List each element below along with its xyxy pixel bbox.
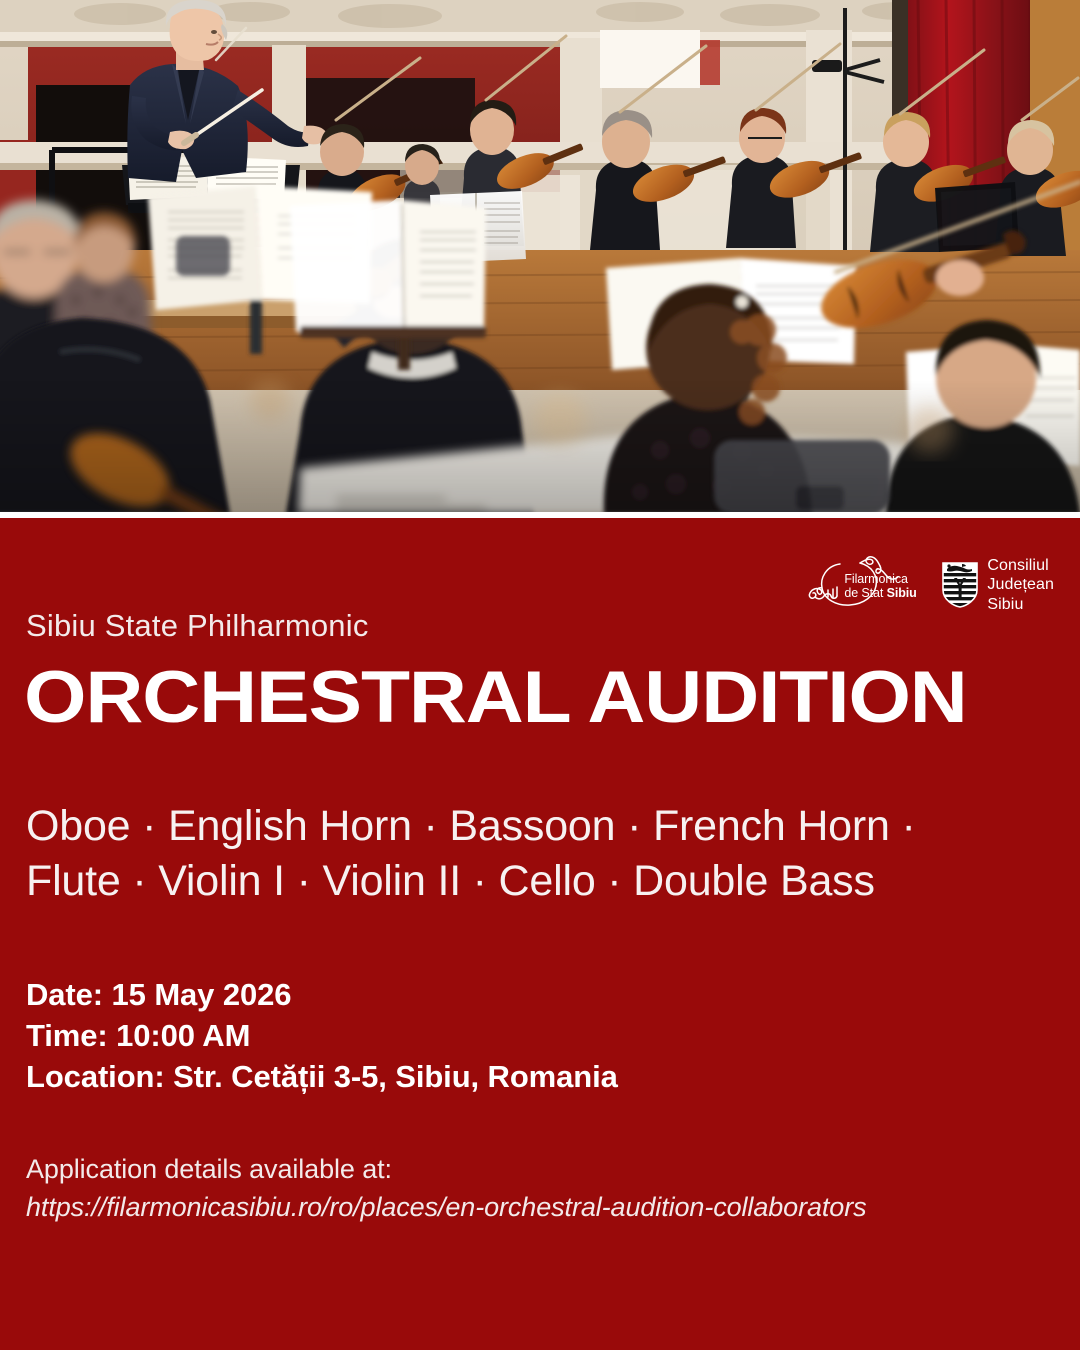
instruments-list: Oboe · English Horn · Bassoon · French H… bbox=[26, 799, 1016, 909]
event-details: Date: 15 May 2026 Time: 10:00 AM Locatio… bbox=[26, 974, 618, 1098]
filarmonica-line1: Filarmonica bbox=[844, 572, 916, 586]
filarmonica-wordmark: Filarmonica de Stat Sibiu bbox=[844, 572, 916, 601]
event-location: Location: Str. Cetății 3-5, Sibiu, Roman… bbox=[26, 1056, 618, 1097]
application-label: Application details available at: bbox=[26, 1154, 392, 1184]
application-info: Application details available at: https:… bbox=[26, 1150, 867, 1227]
event-time: Time: 10:00 AM bbox=[26, 1015, 618, 1056]
cj-line1: Consiliul bbox=[987, 556, 1054, 576]
poster-root: Filarmonica de Stat Sibiu bbox=[0, 0, 1080, 1350]
organisation-name: Sibiu State Philharmonic bbox=[26, 608, 369, 644]
consiliul-judetean-wordmark: Consiliul Județean Sibiu bbox=[987, 556, 1054, 615]
cj-line3: Sibiu bbox=[987, 595, 1054, 615]
filarmonica-line2: de Stat Sibiu bbox=[844, 586, 916, 600]
filarmonica-line2-plain: de Stat bbox=[844, 586, 886, 600]
coat-of-arms-shield-icon bbox=[942, 562, 978, 608]
filarmonica-line2-bold: Sibiu bbox=[887, 586, 917, 600]
filarmonica-sibiu-logo: Filarmonica de Stat Sibiu bbox=[806, 554, 926, 616]
cj-line2: Județean bbox=[987, 575, 1054, 595]
event-date: Date: 15 May 2026 bbox=[26, 974, 618, 1015]
logo-group: Filarmonica de Stat Sibiu bbox=[806, 554, 1054, 616]
page-title: ORCHESTRAL AUDITION bbox=[24, 661, 967, 734]
instruments-line-2: Flute · Violin I · Violin II · Cello · D… bbox=[26, 854, 1016, 909]
instruments-line-1: Oboe · English Horn · Bassoon · French H… bbox=[26, 799, 1016, 854]
consiliul-judetean-sibiu-logo: Consiliul Județean Sibiu bbox=[942, 556, 1054, 615]
orchestra-photo bbox=[0, 0, 1080, 514]
info-panel: Filarmonica de Stat Sibiu bbox=[0, 518, 1080, 1350]
application-url[interactable]: https://filarmonicasibiu.ro/ro/places/en… bbox=[26, 1188, 867, 1226]
